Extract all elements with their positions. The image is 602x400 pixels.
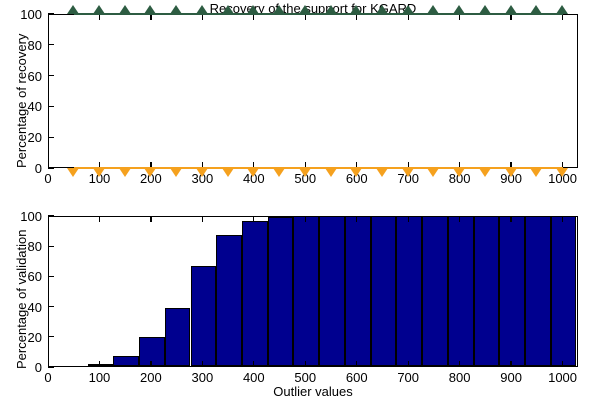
data-point-marker-recovered-support xyxy=(556,5,568,14)
y-tick-label: 20 xyxy=(0,331,42,344)
data-point-marker-failed-support xyxy=(350,168,362,177)
x-tick-mark-top xyxy=(356,216,357,222)
bar xyxy=(474,216,500,366)
y-tick-label: 60 xyxy=(0,270,42,283)
x-tick-label: 200 xyxy=(126,371,176,384)
bar xyxy=(422,216,448,366)
y-tick-mark xyxy=(48,167,54,168)
x-tick-mark xyxy=(459,361,460,367)
data-point-marker-recovered-support xyxy=(427,5,439,14)
y-tick-mark xyxy=(48,366,54,367)
x-tick-label: 800 xyxy=(435,371,485,384)
bar xyxy=(293,216,319,366)
data-point-marker-failed-support xyxy=(196,168,208,177)
x-tick-mark xyxy=(202,361,203,367)
x-tick-label: 500 xyxy=(280,371,330,384)
data-point-marker-failed-support xyxy=(67,168,79,177)
data-point-marker-failed-support xyxy=(119,168,131,177)
data-point-marker-failed-support xyxy=(222,168,234,177)
data-point-marker-recovered-support xyxy=(350,5,362,14)
data-point-marker-recovered-support xyxy=(299,5,311,14)
data-point-marker-recovered-support xyxy=(93,5,105,14)
bottom-x-axis-label: Outlier values xyxy=(48,384,578,399)
bottom-plot-area xyxy=(48,216,578,367)
data-point-marker-failed-support xyxy=(505,168,517,177)
data-point-marker-recovered-support xyxy=(453,5,465,14)
x-tick-label: 600 xyxy=(332,371,382,384)
x-tick-label: 700 xyxy=(383,371,433,384)
x-tick-mark xyxy=(356,361,357,367)
x-tick-mark-top xyxy=(202,216,203,222)
bar xyxy=(139,337,165,366)
bar xyxy=(319,216,345,366)
y-tick-label: 60 xyxy=(0,70,42,83)
x-tick-mark xyxy=(305,361,306,367)
data-point-marker-recovered-support xyxy=(67,5,79,14)
data-point-marker-failed-support xyxy=(479,168,491,177)
data-point-marker-failed-support xyxy=(453,168,465,177)
data-point-marker-failed-support xyxy=(93,168,105,177)
x-tick-mark-top xyxy=(99,216,100,222)
y-tick-mark xyxy=(48,75,54,76)
data-point-marker-recovered-support xyxy=(247,5,259,14)
data-point-marker-failed-support xyxy=(144,168,156,177)
data-point-marker-failed-support xyxy=(376,168,388,177)
x-tick-mark xyxy=(99,361,100,367)
data-point-marker-failed-support xyxy=(402,168,414,177)
data-point-marker-failed-support xyxy=(247,168,259,177)
data-point-marker-recovered-support xyxy=(376,5,388,14)
data-point-marker-recovered-support xyxy=(325,5,337,14)
data-point-marker-recovered-support xyxy=(402,5,414,14)
bottom-panel: Percentage of validation Outlier values … xyxy=(0,200,602,400)
y-tick-label: 20 xyxy=(0,131,42,144)
y-tick-mark xyxy=(48,44,54,45)
x-tick-mark-top xyxy=(510,216,511,222)
data-point-marker-recovered-support xyxy=(119,5,131,14)
x-tick-mark xyxy=(408,361,409,367)
data-point-marker-failed-support xyxy=(556,168,568,177)
figure-canvas: Recovery of the support for KGARD Percen… xyxy=(0,0,602,400)
bar xyxy=(216,235,242,366)
x-tick-label: 900 xyxy=(486,371,536,384)
bar xyxy=(371,216,397,366)
y-tick-mark xyxy=(48,306,54,307)
x-tick-label: 100 xyxy=(74,371,124,384)
y-tick-mark xyxy=(48,106,54,107)
data-point-marker-recovered-support xyxy=(170,5,182,14)
data-point-marker-failed-support xyxy=(170,168,182,177)
y-tick-label: 40 xyxy=(0,301,42,314)
bar xyxy=(396,216,422,366)
x-tick-label: 0 xyxy=(23,371,73,384)
y-tick-label: 40 xyxy=(0,100,42,113)
data-point-marker-recovered-support xyxy=(196,5,208,14)
bar xyxy=(345,216,371,366)
bar xyxy=(448,216,474,366)
x-tick-mark xyxy=(510,361,511,367)
x-tick-label: 1000 xyxy=(538,371,588,384)
x-tick-label: 0 xyxy=(23,172,73,185)
data-point-marker-failed-support xyxy=(530,168,542,177)
y-tick-label: 100 xyxy=(0,8,42,21)
bar xyxy=(499,216,525,366)
y-tick-label: 100 xyxy=(0,210,42,223)
bar xyxy=(88,364,114,366)
data-point-marker-failed-support xyxy=(427,168,439,177)
bar xyxy=(551,216,577,366)
bar xyxy=(242,221,268,366)
bar xyxy=(165,308,191,366)
top-plot-area xyxy=(48,14,578,168)
x-tick-mark xyxy=(150,361,151,367)
data-point-marker-recovered-support xyxy=(273,5,285,14)
y-tick-mark xyxy=(48,215,54,216)
x-tick-mark xyxy=(562,361,563,367)
y-tick-mark xyxy=(48,336,54,337)
data-point-marker-recovered-support xyxy=(222,5,234,14)
y-tick-mark xyxy=(48,246,54,247)
y-tick-mark xyxy=(48,13,54,14)
data-point-marker-failed-support xyxy=(273,168,285,177)
bar xyxy=(191,266,217,366)
x-tick-label: 300 xyxy=(177,371,227,384)
data-point-marker-recovered-support xyxy=(530,5,542,14)
x-tick-label: 400 xyxy=(229,371,279,384)
x-tick-mark-top xyxy=(562,216,563,222)
data-point-marker-failed-support xyxy=(325,168,337,177)
x-tick-mark xyxy=(253,361,254,367)
x-tick-mark-top xyxy=(408,216,409,222)
data-point-marker-recovered-support xyxy=(505,5,517,14)
data-point-marker-recovered-support xyxy=(479,5,491,14)
data-point-marker-recovered-support xyxy=(144,5,156,14)
y-tick-mark xyxy=(48,137,54,138)
y-tick-label: 80 xyxy=(0,39,42,52)
top-panel: Recovery of the support for KGARD Percen… xyxy=(0,0,602,200)
x-tick-mark-top xyxy=(459,216,460,222)
x-tick-mark-top xyxy=(150,216,151,222)
bar xyxy=(268,217,294,366)
bar xyxy=(525,216,551,366)
data-point-marker-failed-support xyxy=(299,168,311,177)
x-tick-mark-top xyxy=(253,216,254,222)
bar xyxy=(113,356,139,366)
y-tick-label: 80 xyxy=(0,240,42,253)
y-tick-mark xyxy=(48,276,54,277)
x-tick-mark-top xyxy=(305,216,306,222)
